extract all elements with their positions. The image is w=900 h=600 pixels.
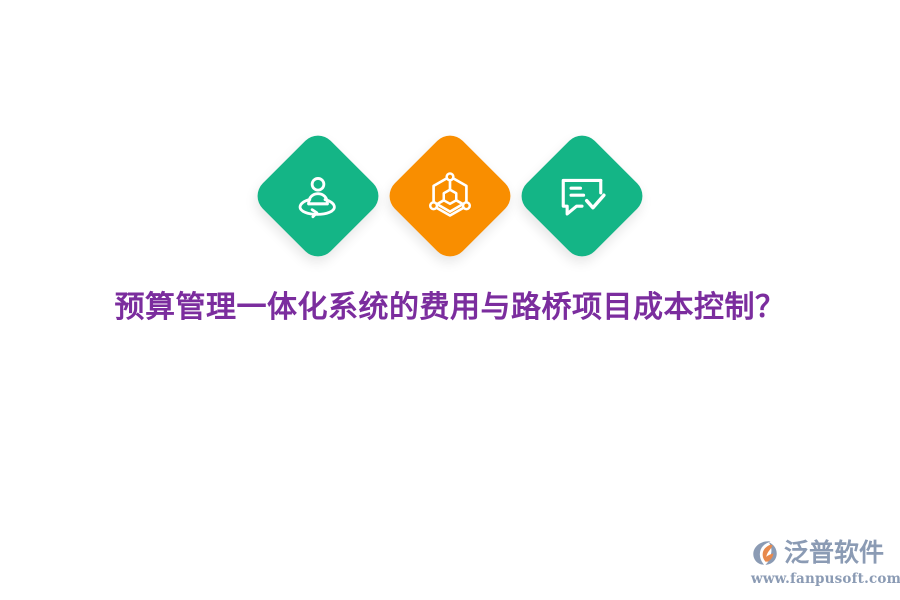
badge-cube-network[interactable] xyxy=(382,128,518,264)
page-title: 预算管理一体化系统的费用与路桥项目成本控制？ xyxy=(0,286,900,330)
brand-mark-row: 泛普软件 xyxy=(750,536,884,570)
user-orbit-icon xyxy=(293,171,343,221)
fanpusoft-logo-icon xyxy=(750,538,780,568)
badge-chat-approved-inner xyxy=(552,166,612,226)
slide-canvas: 预算管理一体化系统的费用与路桥项目成本控制？ 泛普软件 www.fanpusof… xyxy=(0,0,900,600)
chat-bubble-check-icon xyxy=(557,171,607,221)
badge-user-orbit-inner xyxy=(288,166,348,226)
brand-url: www.fanpusoft.com xyxy=(751,573,900,587)
badge-chat-approved[interactable] xyxy=(514,128,650,264)
badge-cube-network-inner xyxy=(420,166,480,226)
brand-wordmark: 泛普软件 xyxy=(784,540,884,565)
badge-user-orbit[interactable] xyxy=(250,128,386,264)
hexagon-cube-network-icon xyxy=(425,171,475,221)
brand-watermark: 泛普软件 www.fanpusoft.com xyxy=(750,524,886,586)
badge-row xyxy=(0,126,900,266)
